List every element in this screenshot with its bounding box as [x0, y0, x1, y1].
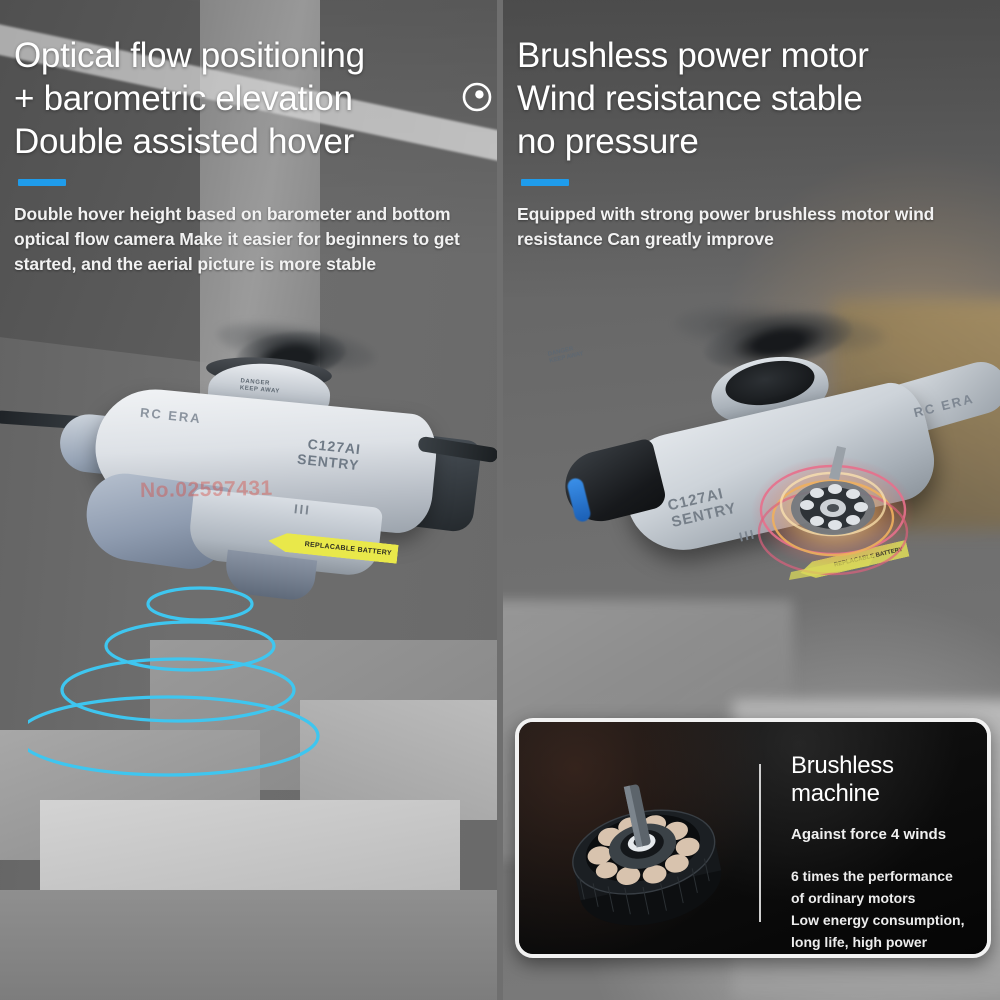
model-label: C127AI SENTRY [296, 435, 361, 473]
watermark-text: No.02597431 [140, 477, 273, 503]
card-spec-lines: 6 times the performance of ordinary moto… [791, 865, 975, 953]
right-feature-panel: C127AI SENTRY RC ERA DANGER KEEP AWAY II… [503, 0, 1000, 1000]
drone-product-image-right: C127AI SENTRY RC ERA DANGER KEEP AWAY II… [543, 300, 1000, 640]
battery-sticker-label: REPLACABLE BATTERY [304, 541, 392, 557]
brushless-machine-card: Brushless machine Against force 4 winds … [515, 718, 991, 958]
left-body-text: Double hover height based on barometer a… [14, 202, 487, 277]
card-text-block: Brushless machine Against force 4 winds … [791, 752, 975, 953]
right-headline: Brushless power motor Wind resistance st… [517, 34, 990, 163]
card-title: Brushless machine [791, 752, 975, 808]
product-feature-banner: RC ERA C127AI SENTRY DANGER KEEP AWAY II… [0, 0, 1000, 1000]
brushless-motor-photo [545, 766, 745, 936]
right-text-block: Brushless power motor Wind resistance st… [517, 34, 990, 252]
vent-marks: III [293, 501, 311, 518]
right-accent-bar [521, 179, 569, 186]
left-accent-bar [18, 179, 66, 186]
crescent-circle-icon [462, 82, 492, 112]
hover-signal-rings [28, 578, 388, 778]
brushless-motor-glow-graphic [733, 440, 933, 600]
card-vertical-rule [759, 764, 761, 922]
left-feature-panel: RC ERA C127AI SENTRY DANGER KEEP AWAY II… [0, 0, 497, 1000]
card-subtitle: Against force 4 winds [791, 826, 975, 843]
right-body-text: Equipped with strong power brushless mot… [517, 202, 990, 252]
left-text-block: Optical flow positioning + barometric el… [14, 34, 487, 277]
background-block [0, 890, 497, 1000]
left-headline: Optical flow positioning + barometric el… [14, 34, 487, 163]
